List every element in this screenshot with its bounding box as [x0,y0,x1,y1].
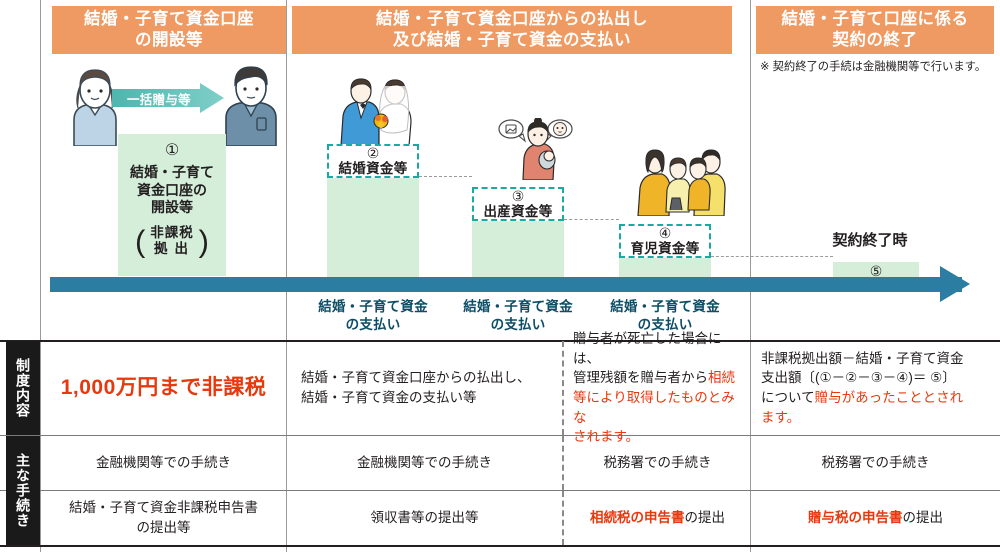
step2-number: ② [367,145,380,161]
timeline-axis [50,277,962,292]
row-header-procedures: 主な手続き [6,436,40,545]
step4-number: ④ [659,225,672,241]
step4-green-bar [619,255,711,277]
connector-4-5 [711,256,833,257]
lump-sum-gift-label: 一括贈与等 [117,89,201,108]
payment-label-2: 結婚・子育て資金の支払い [443,298,593,333]
cell-r3-c4-red: 贈与税の申告書 [808,510,903,525]
table-bottom-border [0,545,1000,547]
man-illustration [216,66,286,146]
cell-r1-c1: 1,000万円まで非課税 [41,341,286,435]
step2-green-bar [327,175,419,277]
table-dash-sep-r3 [562,491,564,545]
cell-r2-c4: 税務署での手続き [751,436,1000,490]
tax-exempt-contribution-badge: ( 非課税 拠出 ) [136,225,208,257]
cell-r3-c4: 贈与税の申告書の提出 [751,491,1000,545]
lump-sum-gift-arrow: 一括贈与等 [112,83,224,113]
step4-label: 育児資金等 [631,241,700,257]
tax-exempt-line1: 非課税 [149,225,195,241]
cell-r3-c2: 領収書等の提出等 [287,491,562,545]
cell-r2-c2: 金融機関等での手続き [287,436,562,490]
step1-number: ① [165,140,179,160]
bracket-right: ) [199,225,209,256]
timeline-arrowhead [940,266,970,302]
wedding-couple-illustration [335,78,415,146]
step1-block: ① 結婚・子育て資金口座の開設等 ( 非課税 拠出 ) [118,134,226,276]
contract-end-note: ※ 契約終了の手続は金融機関等で行います。 [760,60,996,76]
cell-r3-c4-black: の提出 [903,510,944,525]
step5-label: 契約終了時 [800,229,940,250]
cell-r2-c1: 金融機関等での手続き [41,436,286,490]
cell-r3-c3-black: の提出 [685,510,726,525]
cell-r1-c4: 非課税拠出額－結婚・子育て資金支出額〔(①－②－③－④)＝ ⑤〕について贈与があ… [751,341,1000,435]
family-illustration [636,148,728,216]
step1-label: 結婚・子育て資金口座の開設等 [130,164,214,217]
connector-2-3 [419,176,472,177]
cell-r3-c1: 結婚・子育て資金非課税申告書の提出等 [41,491,286,545]
cell-r2-c3: 税務署での手続き [565,436,750,490]
summary-table: 制度内容 主な手続き 1,000万円まで非課税 結婚・子育て資金口座からの払出し… [0,340,1000,552]
step3-label: 出産資金等 [484,204,553,220]
banner-step3-title: 結婚・子育て口座に係る契約の終了 [756,6,994,54]
cell-r3-c3: 相続税の申告書の提出 [565,491,750,545]
cell-r3-c3-red: 相続税の申告書 [590,510,685,525]
table-dash-sep-r2 [562,436,564,490]
connector-3-4 [564,219,619,220]
tax-exempt-line2: 拠出 [149,241,195,257]
step2-label: 結婚資金等 [339,161,408,177]
cell-r1-c3-black: 贈与者が死亡した場合には、管理残額を贈与者から [573,331,722,385]
row-header-system-content: 制度内容 [6,341,40,435]
banner-step1-title: 結婚・子育て資金口座の開設等 [52,6,286,54]
banner-step2-title: 結婚・子育て資金口座からの払出し及び結婚・子育て資金の支払い [292,6,732,54]
mother-and-baby-illustration [497,118,575,180]
payment-label-1: 結婚・子育て資金の支払い [298,298,448,333]
cell-r1-c3: 贈与者が死亡した場合には、管理残額を贈与者から相続等により取得したものとみなされ… [565,341,750,435]
step4-box: ④ 育児資金等 [619,224,711,258]
step2-box: ② 結婚資金等 [327,144,419,178]
table-dash-sep-r1 [562,341,564,435]
step3-number: ③ [512,188,525,204]
step3-green-bar [472,218,564,277]
cell-r1-c2: 結婚・子育て資金口座からの払出し、結婚・子育て資金の支払い等 [287,341,562,435]
step3-box: ③ 出産資金等 [472,187,564,221]
bracket-left: ( [135,225,145,256]
payment-label-3: 結婚・子育て資金の支払い [590,298,740,333]
